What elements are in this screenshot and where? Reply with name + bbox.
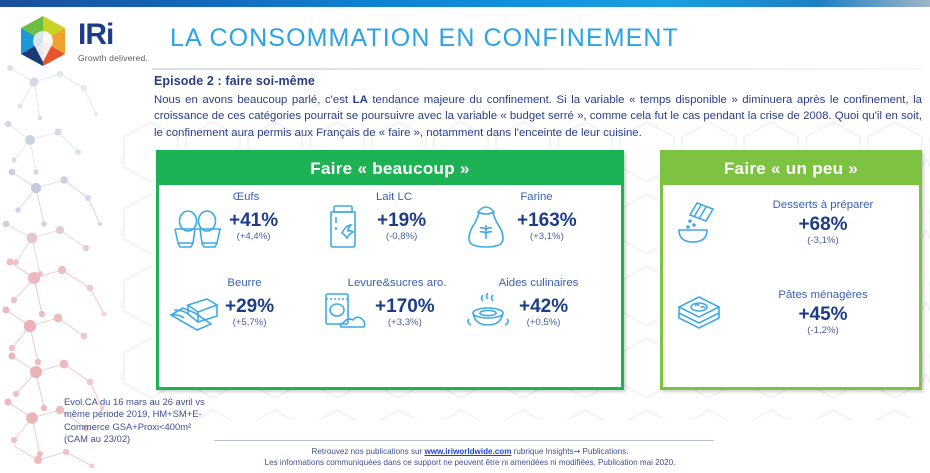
iri-logo (14, 14, 72, 68)
item-farine-value: +163% (517, 211, 577, 231)
item-lait-label: Lait LC (319, 191, 469, 203)
top-accent-bar (0, 0, 930, 7)
item-farine-delta: (+3,1%) (517, 231, 577, 243)
yeast-sugar-icon (317, 289, 371, 337)
item-lait-delta: (-0,8%) (377, 231, 426, 243)
brand-tagline: Growth delivered. (78, 53, 148, 63)
item-aides-value: +42% (519, 297, 568, 317)
item-oeufs-label: Œufs (171, 191, 321, 203)
butter-dish-icon (167, 289, 221, 337)
item-levure-delta: (+3,3%) (375, 317, 435, 329)
panel-faire-un-peu: Faire « un peu » Desserts à préparer +68… (660, 150, 922, 390)
item-beurre-label: Beurre (167, 277, 322, 289)
item-desserts-delta: (-3,1%) (731, 235, 915, 247)
footer-prefix: Retrouvez nos publications sur (312, 447, 425, 456)
milk-carton-icon (319, 203, 373, 251)
item-farine-label: Farine (459, 191, 614, 203)
egg-carton-icon (171, 203, 225, 251)
title-divider (152, 68, 922, 70)
panel-unpeu-body: Desserts à préparer +68% (-3,1%) (663, 185, 919, 390)
methodology-footnote: Evol.CA du 16 mars au 26 avril vs même p… (64, 396, 214, 446)
item-oeufs: Œufs +41% (+4,4%) (171, 191, 321, 251)
item-farine: Farine +163% (+3,1%) (459, 191, 614, 251)
footer-suffix: Publications. (580, 447, 628, 456)
footer-line-2: Les informations communiquées dans ce su… (190, 457, 750, 468)
panel-unpeu-title: Faire « un peu » (663, 153, 919, 185)
episode-heading: Episode 2 : faire soi-même (154, 74, 315, 88)
item-oeufs-value: +41% (229, 211, 278, 231)
footer-text: Retrouvez nos publications sur www.iriwo… (190, 446, 750, 468)
item-levure-label: Levure&sucres aro. (317, 277, 477, 289)
footer-line-1: Retrouvez nos publications sur www.iriwo… (190, 446, 750, 457)
item-desserts: Desserts à préparer +68% (-3,1%) (673, 199, 915, 247)
item-desserts-label: Desserts à préparer (731, 199, 915, 211)
item-pates-value: +45% (731, 305, 915, 325)
item-oeufs-delta: (+4,4%) (229, 231, 278, 243)
item-pates-label: Pâtes ménagères (731, 289, 915, 301)
pastry-stack-icon (673, 289, 727, 337)
item-lait-value: +19% (377, 211, 426, 231)
dessert-bowl-icon (673, 199, 727, 247)
panel-beaucoup-body: Œufs +41% (+4,4%) Lait LC (159, 185, 621, 390)
item-beurre-delta: (+5,7%) (225, 317, 274, 329)
intro-text-emphasis: LA (353, 94, 368, 106)
iri-hexagon-logo-icon (14, 14, 72, 68)
soup-bowl-icon (461, 289, 515, 337)
item-aides: Aides culinaires +42% (+0,5%) (461, 277, 616, 337)
intro-text-part1: Nous en avons beaucoup parlé, c'est (154, 94, 353, 106)
panel-faire-beaucoup: Faire « beaucoup » Œufs +41% (+4,4%) (156, 150, 624, 390)
panel-beaucoup-title: Faire « beaucoup » (159, 153, 621, 185)
item-pates-delta: (-1,2%) (731, 325, 915, 337)
item-beurre: Beurre +29% (+5,7%) (167, 277, 322, 337)
item-pates: Pâtes ménagères +45% (-1,2%) (673, 289, 915, 337)
item-beurre-value: +29% (225, 297, 274, 317)
brand-wordmark: IRi Growth delivered. (78, 20, 148, 63)
page-title: LA CONSOMMATION EN CONFINEMENT (170, 24, 679, 53)
footer-middle: rubrique Insights (511, 447, 573, 456)
item-desserts-value: +68% (731, 215, 915, 235)
item-aides-delta: (+0,5%) (519, 317, 568, 329)
flour-bag-icon (459, 203, 513, 251)
brand-mark-text: IRi (78, 20, 148, 50)
item-aides-label: Aides culinaires (461, 277, 616, 289)
item-levure: Levure&sucres aro. +170% (+3,3%) (317, 277, 477, 337)
item-levure-value: +170% (375, 297, 435, 317)
intro-paragraph: Nous en avons beaucoup parlé, c'est LA t… (154, 92, 922, 141)
item-lait: Lait LC +19% (-0,8%) (319, 191, 469, 251)
iri-website-link[interactable]: www.iriworldwide.com (424, 447, 511, 456)
footer-divider (214, 440, 714, 441)
